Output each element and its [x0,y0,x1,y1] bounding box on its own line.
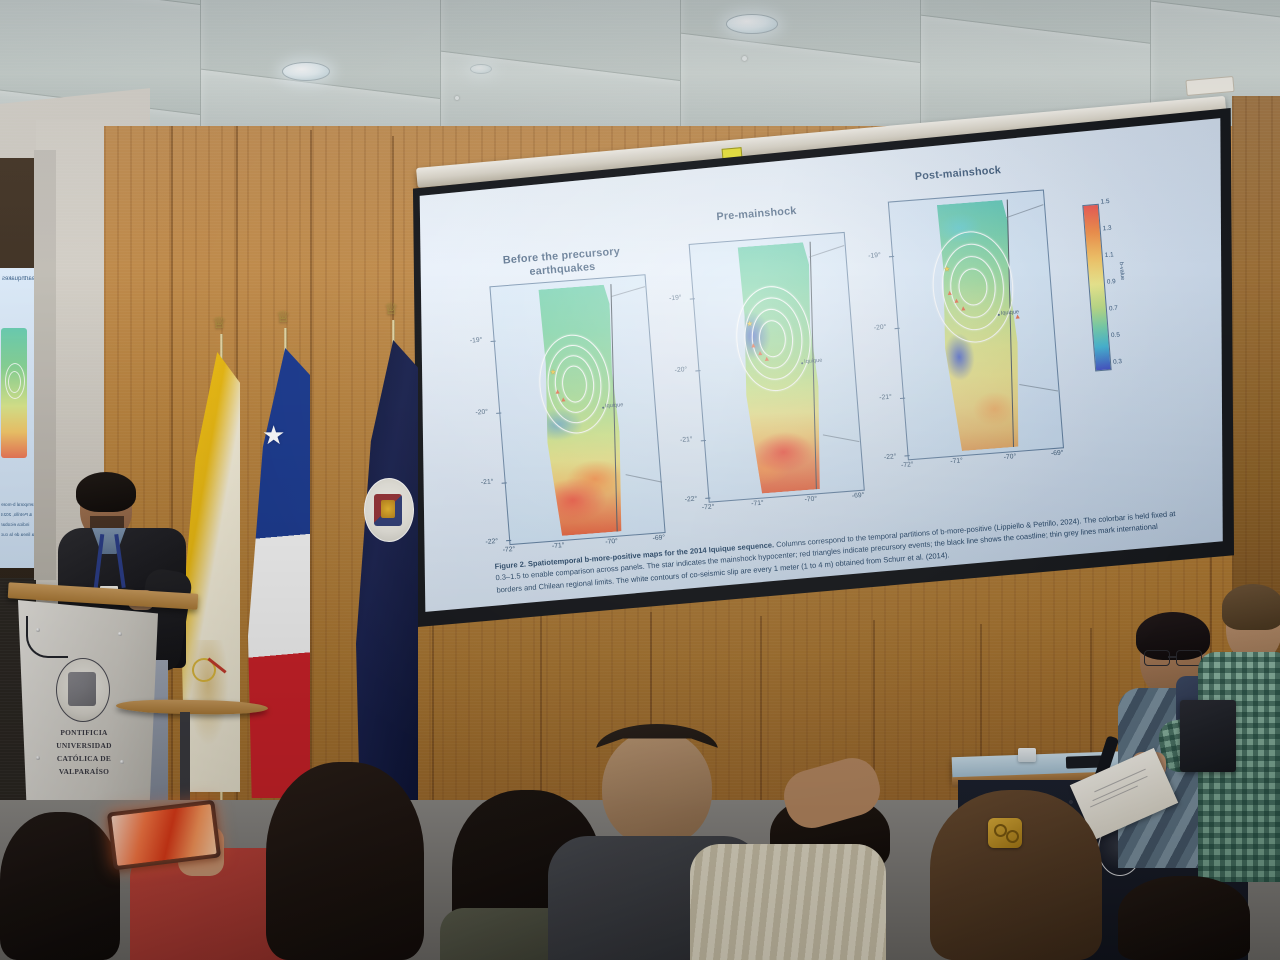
colorbar-tick: 0.5 [1111,331,1120,339]
colorbar-tick: 0.9 [1107,278,1116,286]
colorbar-tick: 1.1 [1105,251,1114,259]
audience-member-with-hairclip [930,790,1102,960]
podium-institution-line: PONTIFICIA [44,728,124,738]
colorbar-tick: 1.3 [1102,225,1111,233]
podium-cable [26,616,68,658]
panel-title-before: Before the precursory earthquakes [499,245,624,282]
city-label-iquique: Iquique [605,402,624,410]
conference-room-photo: Before the precursory earthquakes spatio… [0,0,1280,960]
audience-hair [0,812,120,960]
map-panel-before: ★ Iquique -19° -20° -21° -22° -72° -71° … [489,274,665,545]
table-water-glass [1018,748,1036,762]
secondary-display: Before the precursory earthquakes spatio… [0,268,34,568]
flag-finial-icon: ♕ [384,302,398,318]
podium-institution-line: CATÓLICA DE [42,754,126,764]
flag-finial-icon: ♕ [276,310,290,326]
panel-title-pre: Pre-mainshock [694,203,818,226]
panel-title-post: Post-mainshock [896,162,1020,185]
colorbar-axis-label: b-value [1118,262,1126,281]
side-display-caption: spatiotemporal b-more [1,502,34,507]
podium-institution-line: UNIVERSIDAD [42,741,126,751]
precursory-event-marker [561,397,565,401]
audience-member-torso [690,844,886,960]
colorbar-tick: 1.5 [1100,198,1109,206]
laptop [1180,700,1236,772]
standing-attendee-hair [1222,584,1280,630]
projector-screen: Before the precursory earthquakes Pre-ma… [414,112,1226,620]
map-panel-post: ★ Iquique -19° -20° -21° -22° -72° -71° … [888,189,1064,460]
flag-finial-icon: ♕ [212,316,226,332]
side-display-title: Before the precursory earthquakes [2,276,34,282]
precursory-event-marker [555,389,559,393]
presentation-slide: Before the precursory earthquakes Pre-ma… [414,112,1226,620]
map-panel-pre: ★ Iquique -19° -20° -21° -22° -72° -71° … [689,232,865,503]
colorbar-tick: 0.3 [1113,358,1122,366]
colorbar-tick: 0.7 [1109,305,1118,313]
podium-institution-line: VALPARAÍSO [42,767,126,777]
audience-member-head [266,762,424,960]
presenter-hair [76,472,136,512]
audience-member-head [602,730,712,846]
chile-flag-star-icon: ★ [262,422,285,448]
wall-right-return [1232,96,1280,656]
audience-member-head [1118,876,1250,960]
smartphone-screen[interactable] [111,804,216,866]
moderator-glasses-icon [1144,650,1202,664]
mainshock-star-icon: ★ [550,369,557,377]
